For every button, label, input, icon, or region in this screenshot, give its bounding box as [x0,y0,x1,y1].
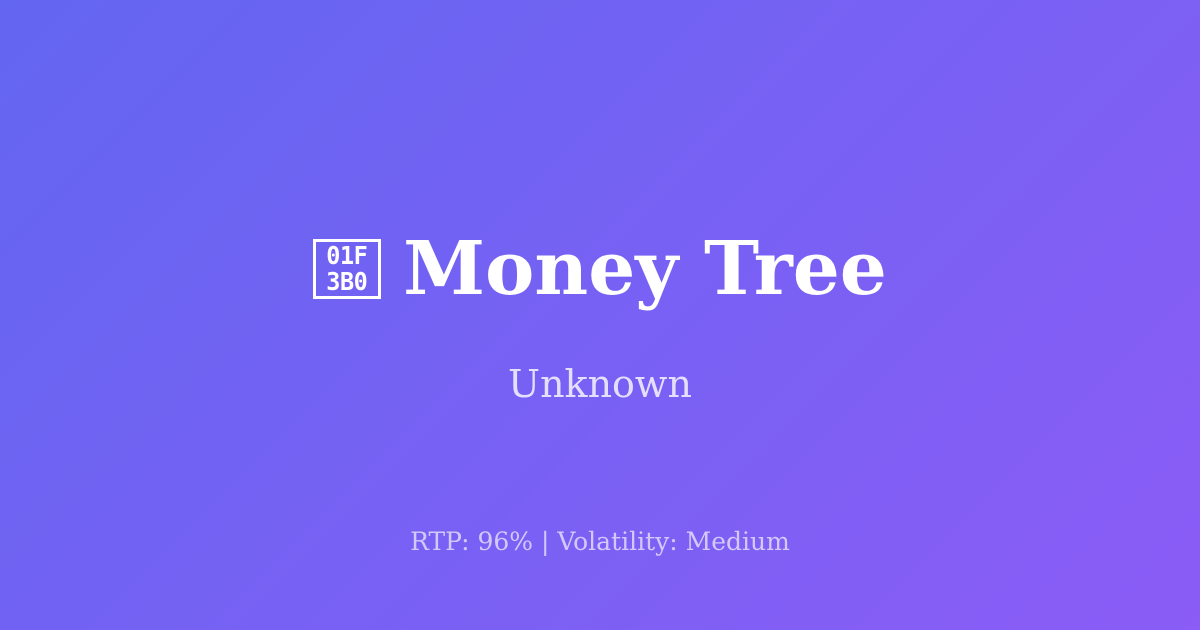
game-og-card: 01F 3B0 Money Tree Unknown RTP: 96% | Vo… [0,0,1200,630]
game-stats-line: RTP: 96% | Volatility: Medium [0,528,1200,556]
slot-machine-icon: 01F 3B0 [313,239,381,299]
title-row: 01F 3B0 Money Tree [0,232,1200,306]
tofu-codepoint-bottom: 3B0 [327,269,368,295]
tofu-codepoint-top: 01F [327,243,368,269]
game-provider-subtitle: Unknown [0,365,1200,403]
page-title: Money Tree [403,232,887,306]
